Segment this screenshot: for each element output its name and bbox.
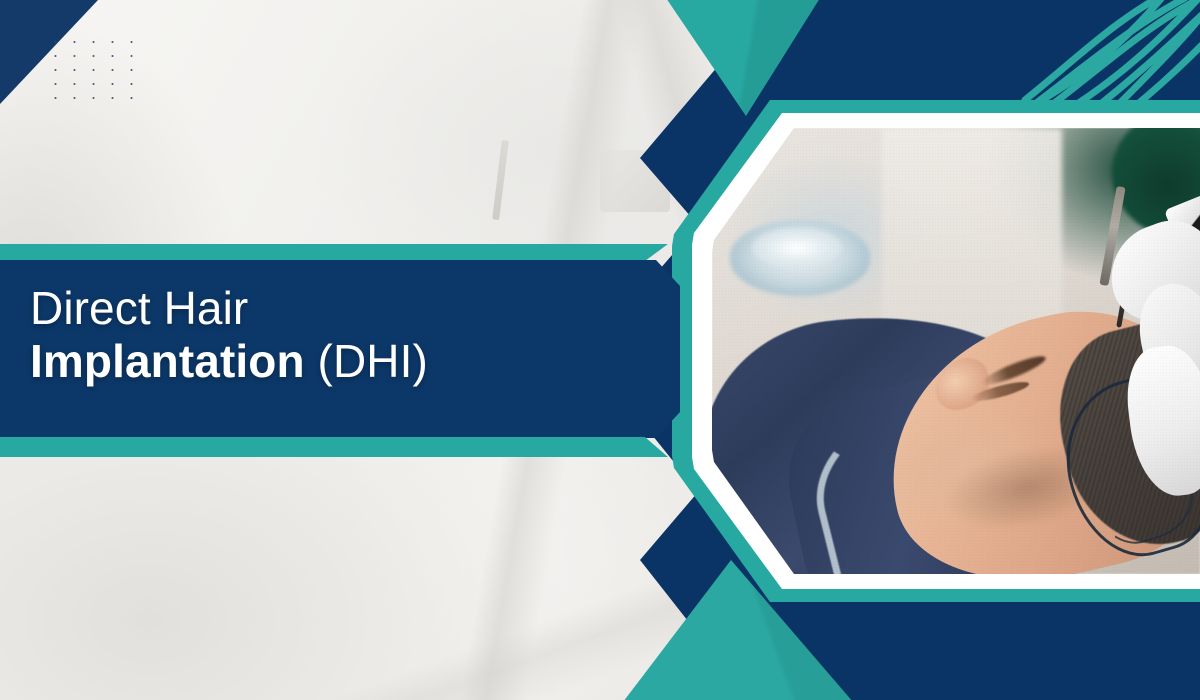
title-abbreviation: (DHI) [305, 335, 428, 387]
scribble-decoration [1015, 0, 1200, 112]
dhi-hero-banner: Direct Hair Implantation (DHI) [0, 0, 1200, 700]
background-instrument [492, 140, 509, 220]
procedure-photo [712, 128, 1200, 574]
title-band-teal-top [0, 244, 668, 261]
title-line-1: Direct Hair [30, 282, 630, 335]
title-emphasis: Implantation [30, 335, 305, 387]
title-line-2: Implantation (DHI) [30, 335, 630, 388]
page-title: Direct Hair Implantation (DHI) [30, 282, 630, 389]
photo-grain-overlay [712, 128, 1200, 574]
dot-grid-decoration [46, 35, 146, 100]
title-band-teal-bottom [0, 437, 668, 457]
